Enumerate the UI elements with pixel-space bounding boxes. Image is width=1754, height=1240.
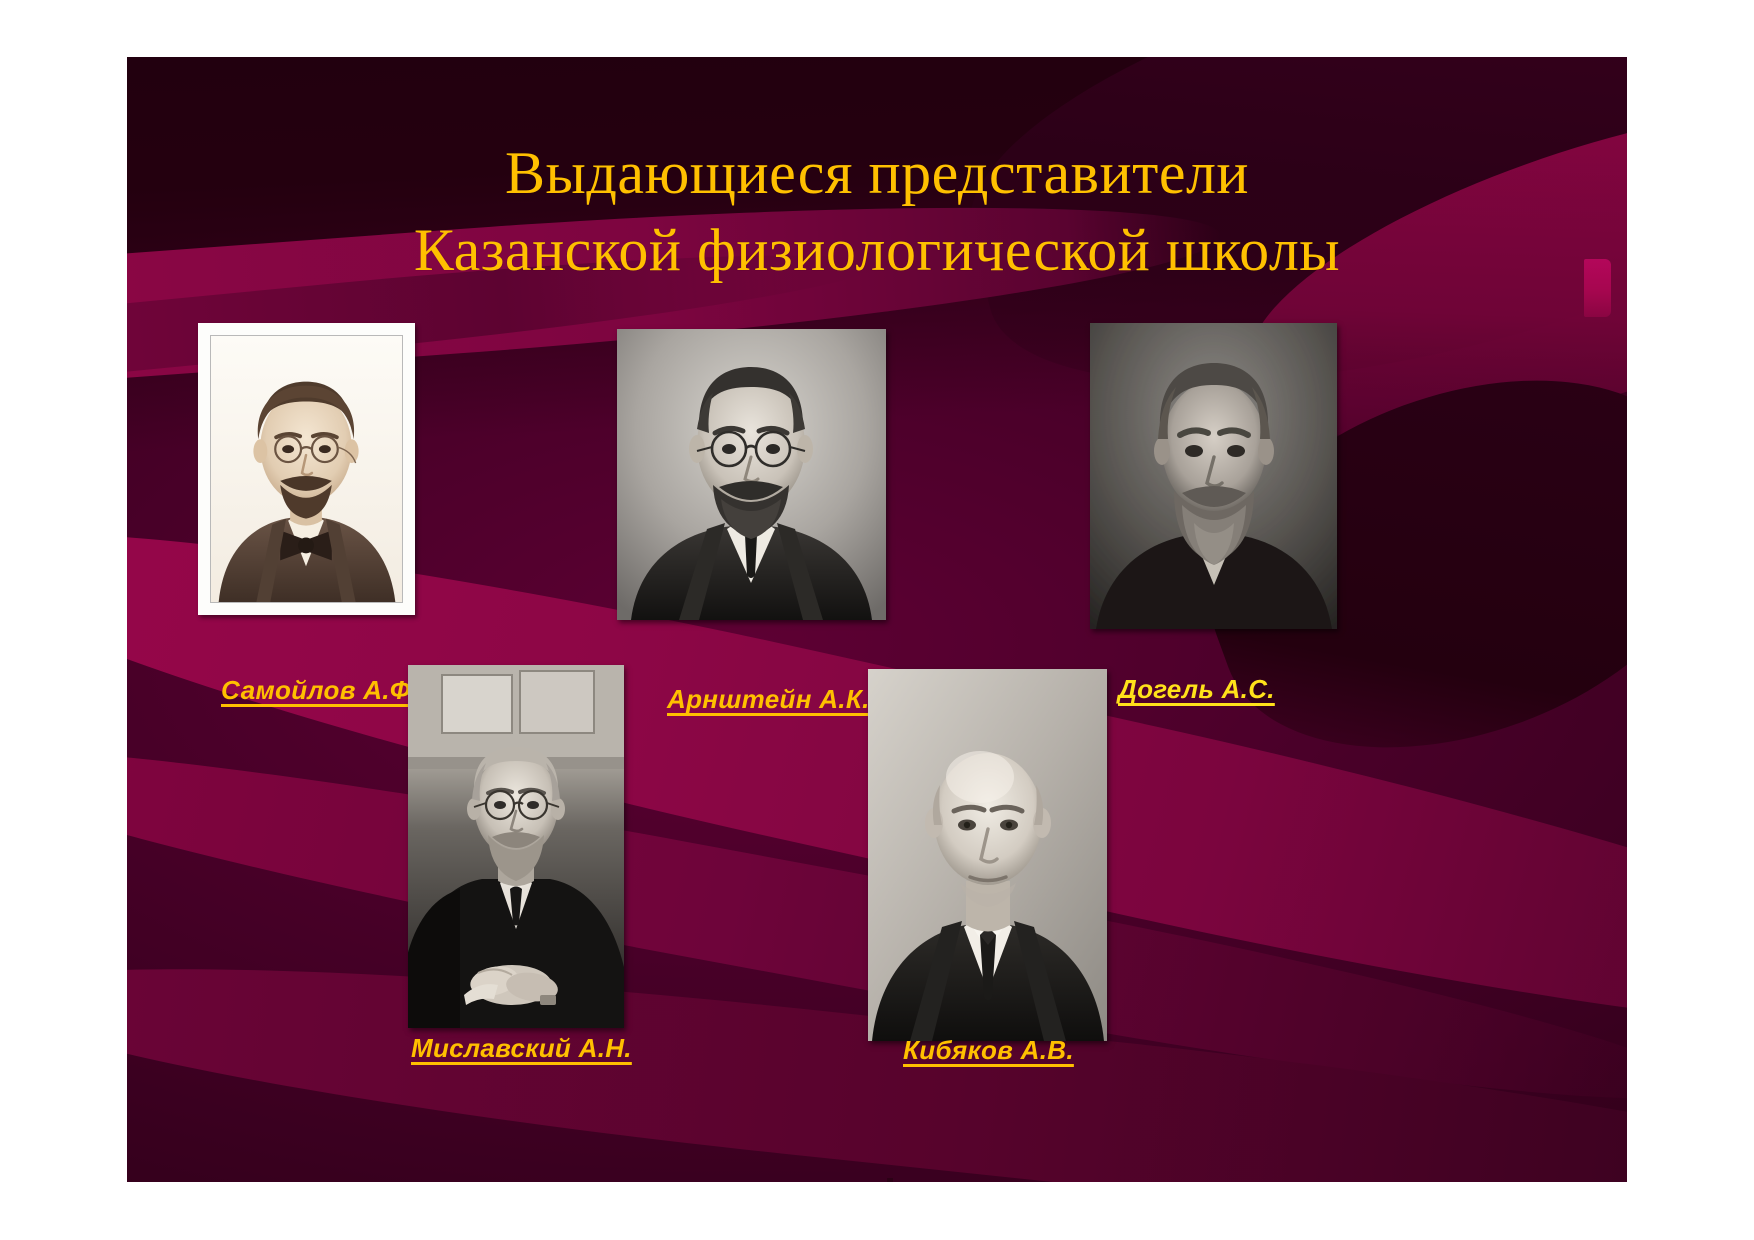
- portrait-samoylov: [198, 323, 415, 615]
- portrait-mislavsky: [408, 665, 624, 1028]
- portrait-image-arnshtein: [617, 329, 886, 620]
- caption-arnshtein: Арнштейн А.К.: [667, 684, 870, 715]
- caption-kibyakov: Кибяков А.В.: [903, 1035, 1074, 1066]
- slide-bottom-tick: [887, 1178, 893, 1182]
- presentation-slide: Выдающиеся представители Казанской физио…: [127, 57, 1627, 1182]
- slide-title: Выдающиеся представители Казанской физио…: [127, 135, 1627, 289]
- portrait-image-samoylov: [211, 336, 402, 602]
- portrait-image-kibyakov: [868, 669, 1107, 1041]
- caption-dogel: Догель А.С.: [1118, 674, 1275, 705]
- caption-mislavsky: Миславский А.Н.: [411, 1033, 632, 1064]
- portrait-kibyakov: [868, 669, 1107, 1041]
- portrait-dogel: [1090, 323, 1337, 629]
- portrait-image-dogel: [1090, 323, 1337, 629]
- portrait-mat: [210, 335, 403, 603]
- portrait-arnshtein: [617, 329, 886, 620]
- portrait-image-mislavsky: [408, 665, 624, 1028]
- caption-samoylov: Самойлов А.Ф.: [221, 675, 418, 706]
